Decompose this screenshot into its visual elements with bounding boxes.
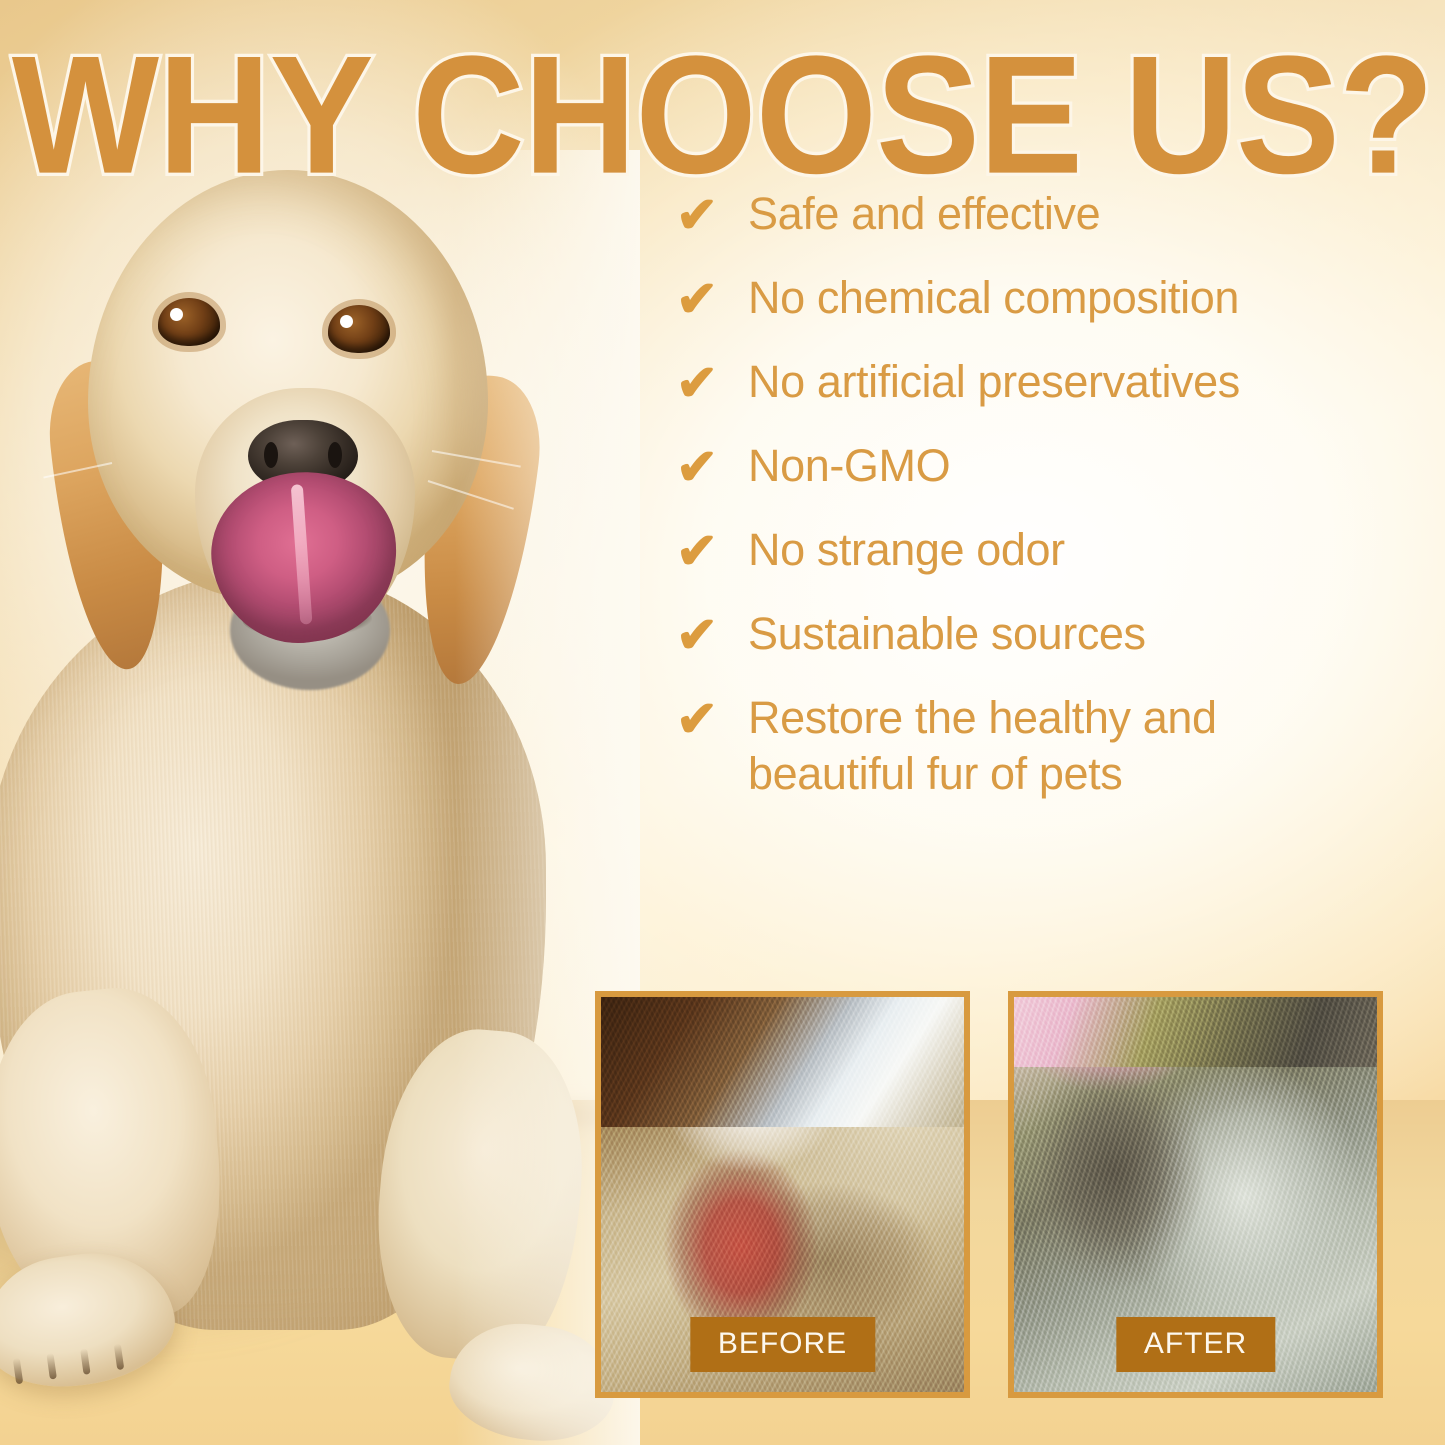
benefit-label: Non-GMO bbox=[748, 438, 1412, 494]
benefit-label: No chemical composition bbox=[748, 270, 1412, 326]
benefit-item: ✔ No strange odor bbox=[672, 522, 1412, 580]
after-panel: AFTER bbox=[1008, 991, 1383, 1398]
dog-eye-right bbox=[328, 305, 390, 353]
benefit-label: Safe and effective bbox=[748, 186, 1412, 242]
benefit-label: Restore the healthy and beautiful fur of… bbox=[748, 690, 1412, 802]
check-icon: ✔ bbox=[672, 270, 748, 328]
benefit-label: No artificial preservatives bbox=[748, 354, 1412, 410]
after-photo-background bbox=[1014, 997, 1377, 1067]
check-icon: ✔ bbox=[672, 186, 748, 244]
benefits-list: ✔ Safe and effective ✔ No chemical compo… bbox=[672, 186, 1412, 802]
check-icon: ✔ bbox=[672, 690, 748, 748]
benefit-item: ✔ No artificial preservatives bbox=[672, 354, 1412, 412]
benefit-item: ✔ Restore the healthy and beautiful fur … bbox=[672, 690, 1412, 802]
benefit-item: ✔ Safe and effective bbox=[672, 186, 1412, 244]
check-icon: ✔ bbox=[672, 354, 748, 412]
benefit-item: ✔ No chemical composition bbox=[672, 270, 1412, 328]
check-icon: ✔ bbox=[672, 438, 748, 496]
after-label: AFTER bbox=[1116, 1317, 1275, 1372]
benefit-label: Sustainable sources bbox=[748, 606, 1412, 662]
benefit-item: ✔ Sustainable sources bbox=[672, 606, 1412, 664]
check-icon: ✔ bbox=[672, 606, 748, 664]
benefit-label: No strange odor bbox=[748, 522, 1412, 578]
before-label: BEFORE bbox=[690, 1317, 875, 1372]
before-panel: BEFORE bbox=[595, 991, 970, 1398]
hero-dog-photo bbox=[0, 150, 620, 1330]
dog-eye-left bbox=[158, 298, 220, 346]
promo-poster: WHY CHOOSE US? ✔ Safe and effective ✔ No… bbox=[0, 0, 1445, 1445]
check-icon: ✔ bbox=[672, 522, 748, 580]
benefit-item: ✔ Non-GMO bbox=[672, 438, 1412, 496]
before-photo-background bbox=[601, 997, 964, 1127]
page-title: WHY CHOOSE US? bbox=[0, 36, 1445, 193]
